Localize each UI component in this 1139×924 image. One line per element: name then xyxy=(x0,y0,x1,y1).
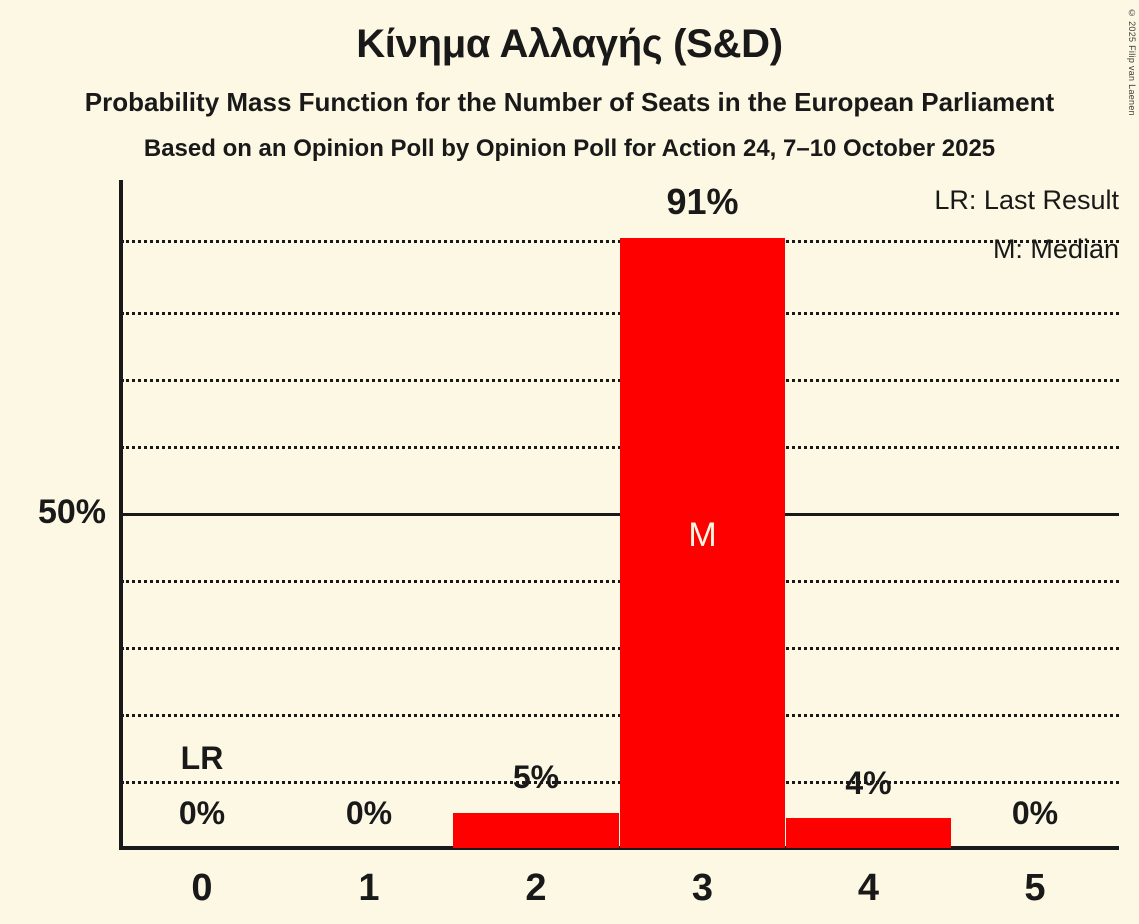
x-axis-tick-2: 2 xyxy=(453,866,619,910)
x-axis-tick-1: 1 xyxy=(286,866,452,910)
value-label-4: 4% xyxy=(786,765,951,801)
chart-subtitle: Probability Mass Function for the Number… xyxy=(0,86,1139,118)
x-axis-tick-4: 4 xyxy=(786,866,951,910)
bar-4 xyxy=(786,818,951,848)
chart-source-subtitle: Based on an Opinion Poll by Opinion Poll… xyxy=(0,134,1139,164)
page-title: Κίνημα Αλλαγής (S&D) xyxy=(0,20,1139,68)
value-label-2: 5% xyxy=(453,759,619,795)
value-label-3: 91% xyxy=(620,184,785,220)
median-marker: M xyxy=(620,518,785,552)
x-axis-tick-3: 3 xyxy=(620,866,785,910)
x-axis-tick-5: 5 xyxy=(952,866,1118,910)
bar-2 xyxy=(453,813,619,848)
copyright-notice: © 2025 Filip van Laenen xyxy=(1127,8,1137,116)
bar-3: M xyxy=(620,238,785,848)
last-result-marker: LR xyxy=(119,740,285,776)
y-axis-tick-50: 50% xyxy=(0,492,106,532)
x-axis-tick-0: 0 xyxy=(119,866,285,910)
value-label-0: 0% xyxy=(119,795,285,831)
value-label-1: 0% xyxy=(286,795,452,831)
value-label-5: 0% xyxy=(952,795,1118,831)
x-axis-line xyxy=(119,846,1119,850)
